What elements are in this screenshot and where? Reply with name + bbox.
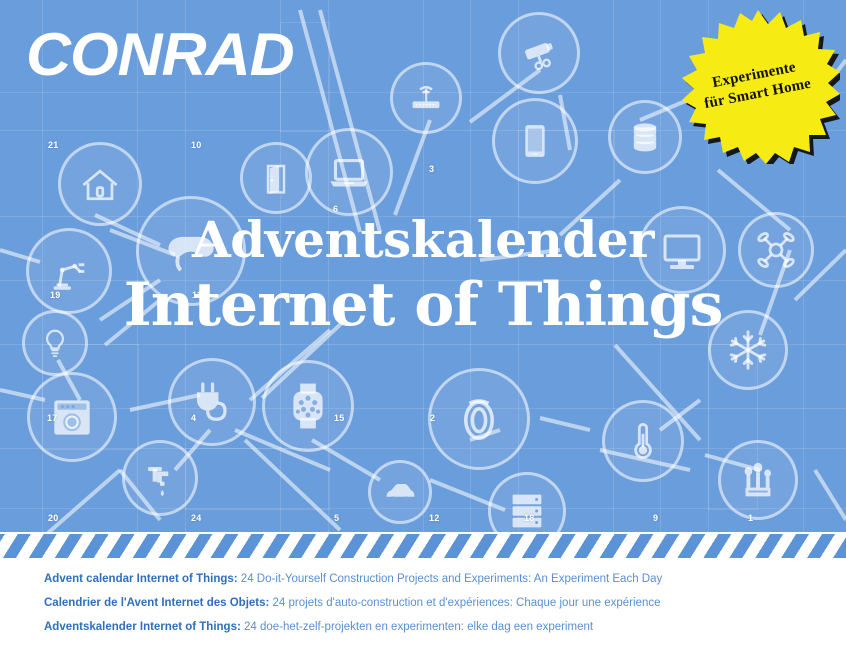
striped-band-top-edge: [0, 532, 846, 534]
footer-line-fr: Calendrier de l'Avent Internet des Objet…: [44, 596, 662, 611]
door-number-2: 2: [430, 413, 435, 423]
door-number-21: 21: [48, 140, 59, 150]
footer-panel: Advent calendar Internet of Things: 24 D…: [0, 558, 846, 650]
door-number-5: 5: [334, 513, 339, 523]
starburst-text: Experimente für Smart Home: [658, 0, 846, 179]
footer-line-nl-rest: 24 doe-het-zelf-projekten en experimente…: [241, 621, 593, 633]
node-smartwatch: [262, 360, 354, 452]
footer-line-en-bold: Advent calendar Internet of Things:: [44, 573, 238, 585]
node-door: [240, 142, 312, 214]
door-number-24: 24: [191, 513, 202, 523]
advent-calendar-poster: 21 10 3 6 19 11 8 17 4 15 2 20 24 5 12 1…: [0, 0, 846, 650]
node-laptop: [305, 128, 393, 216]
door-number-12: 12: [429, 513, 440, 523]
footer-line-en: Advent calendar Internet of Things: 24 D…: [44, 572, 662, 587]
footer-line-fr-rest: 24 projets d'auto-construction et d'expé…: [269, 597, 660, 609]
door-number-20: 20: [48, 513, 59, 523]
conrad-logo-text: CONRAD: [26, 24, 294, 86]
node-power-plug: [168, 358, 256, 446]
node-ring-wearable: [428, 368, 530, 470]
door-number-10: 10: [191, 140, 202, 150]
node-faucet: [122, 440, 198, 516]
striped-tear-band: [0, 532, 846, 558]
footer-line-nl: Adventskalender Internet of Things: 24 d…: [44, 620, 662, 635]
door-number-17: 17: [47, 413, 58, 423]
footer-line-fr-bold: Calendrier de l'Avent Internet des Objet…: [44, 597, 269, 609]
title-line-2: Internet of Things: [0, 270, 846, 340]
node-router: [390, 62, 462, 134]
starburst-badge: Experimente für Smart Home: [672, 6, 840, 164]
title-line-1: Adventskalender: [0, 212, 846, 268]
footer-text-block: Advent calendar Internet of Things: 24 D…: [44, 572, 662, 644]
node-washing-machine: [27, 372, 117, 462]
node-database: [608, 100, 682, 174]
door-number-4: 4: [191, 413, 196, 423]
conrad-logo: CONRAD: [26, 24, 284, 86]
footer-line-nl-bold: Adventskalender Internet of Things:: [44, 621, 241, 633]
door-number-18: 18: [524, 513, 535, 523]
node-car: [368, 460, 432, 524]
node-tablet: [492, 98, 578, 184]
footer-line-en-rest: 24 Do-it-Yourself Construction Projects …: [238, 573, 663, 585]
door-number-3: 3: [429, 164, 434, 174]
door-number-15: 15: [334, 413, 345, 423]
poster-title: Adventskalender Internet of Things: [0, 212, 846, 340]
door-number-1: 1: [748, 513, 753, 523]
node-factory: [718, 440, 798, 520]
door-number-9: 9: [653, 513, 658, 523]
node-security-camera: [498, 12, 580, 94]
node-thermometer: [602, 400, 684, 482]
